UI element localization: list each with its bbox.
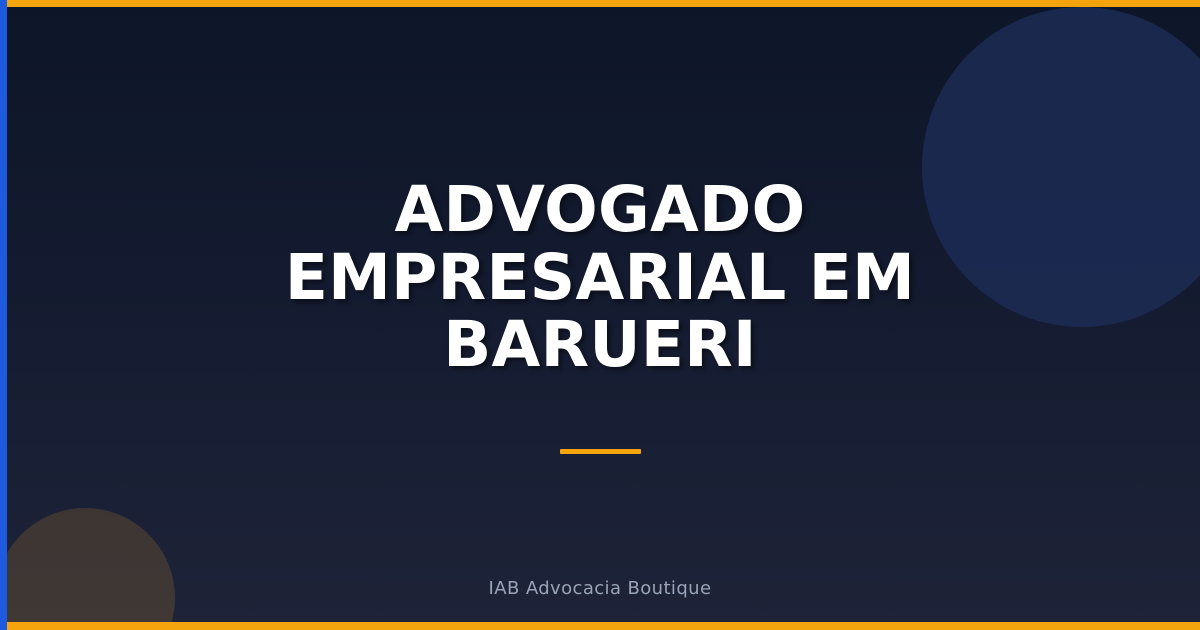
accent-bar-left [0,0,7,630]
page-title: ADVOGADO EMPRESARIAL EM BARUERI [160,176,1040,378]
poster-content: ADVOGADO EMPRESARIAL EM BARUERI [0,0,1200,630]
social-card-poster: ADVOGADO EMPRESARIAL EM BARUERI IAB Advo… [0,0,1200,630]
title-divider [560,449,641,454]
